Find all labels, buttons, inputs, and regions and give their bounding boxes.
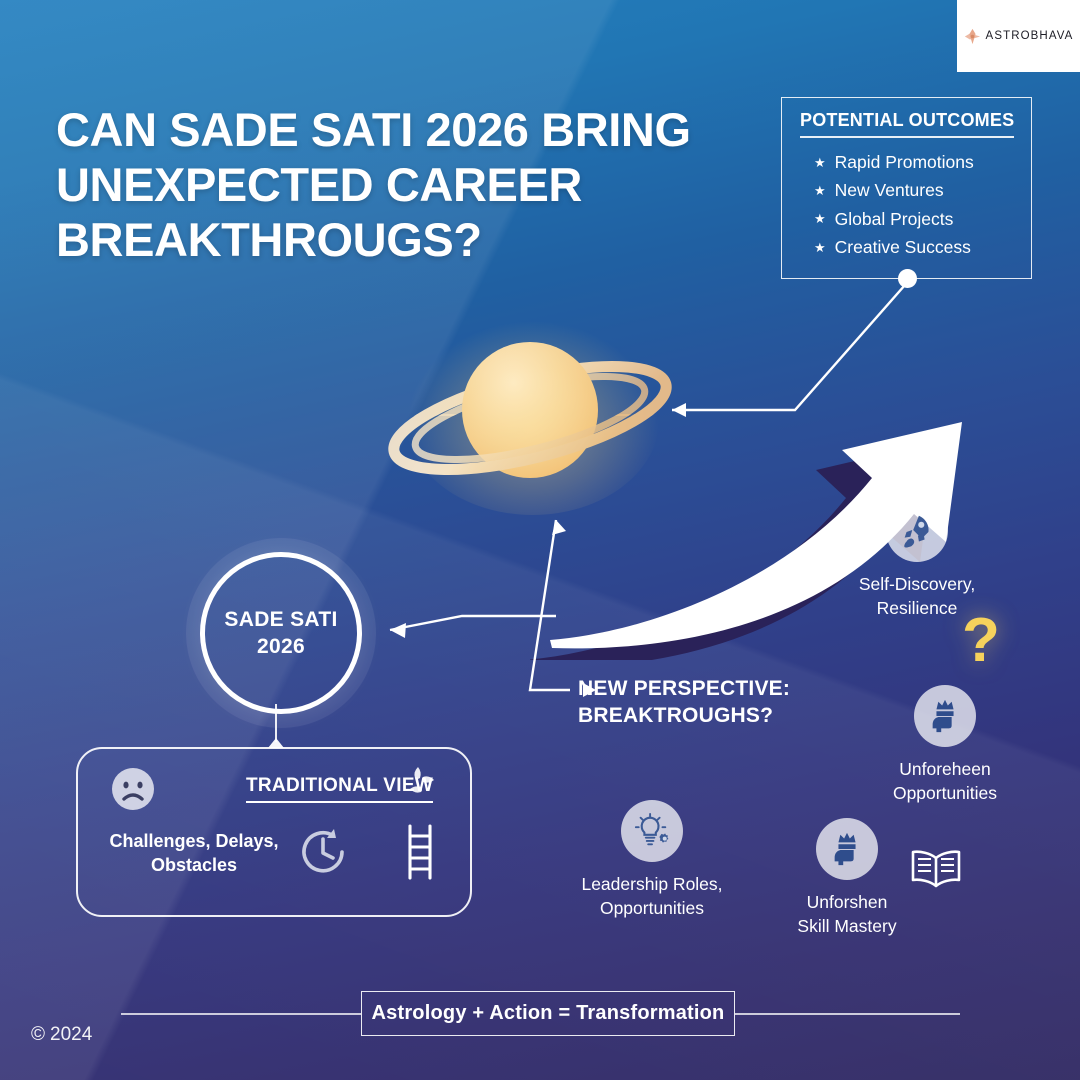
sade-sati-node: SADE SATI 2026 (200, 552, 362, 714)
outcome-item: ★ Rapid Promotions (814, 148, 1017, 176)
footer-tagline-banner: Astrology + Action = Transformation (361, 991, 735, 1036)
copyright-year: 2024 (50, 1024, 92, 1046)
infographic-canvas: ASTROBHAVA CAN SADE SATI 2026 BRING UNEX… (0, 0, 1080, 1080)
sad-face-icon (111, 767, 155, 811)
outcome-label: Creative Success (835, 233, 971, 261)
crowned-head-icon (816, 818, 878, 880)
sade-sati-stem (275, 704, 277, 742)
new-perspective-label: NEW PERSPECTIVE: BREAKTROUGHS? (578, 676, 828, 730)
rocket-icon (886, 500, 948, 562)
star-icon: ★ (814, 212, 826, 225)
benefit-label: Unforshen Skill Mastery (762, 891, 932, 938)
benefit-skill-mastery: Unforshen Skill Mastery (762, 818, 932, 938)
star-icon: ★ (814, 156, 826, 169)
copyright: © 2024 (31, 1024, 92, 1046)
outcome-label: Rapid Promotions (835, 148, 974, 176)
star-icon: ★ (814, 241, 826, 254)
clock-delay-icon (296, 825, 350, 879)
connector-node-dot (898, 269, 917, 288)
sade-sati-node-line2: 2026 (257, 633, 305, 660)
new-perspective-line1: NEW PERSPECTIVE: (578, 676, 828, 703)
star-icon: ★ (814, 184, 826, 197)
traditional-view-panel: TRADITIONAL VIEW Challenges, Delays, Obs… (76, 747, 472, 917)
lightbulb-gear-icon (621, 800, 683, 862)
benefit-unforeheen-opportunities: Unforeheen Opportunities (855, 685, 1035, 805)
footer-rule-right (735, 1013, 960, 1015)
broken-fan-icon (396, 763, 440, 807)
outcome-item: ★ New Ventures (814, 176, 1017, 204)
benefit-leadership-roles: Leadership Roles, Opportunities (562, 800, 742, 920)
ladder-icon (400, 823, 440, 881)
benefit-self-discovery: Self-Discovery, Resilience (822, 500, 1012, 620)
copyright-symbol: © (31, 1024, 45, 1046)
diamond-icon (964, 28, 981, 45)
sade-sati-node-line1: SADE SATI (224, 606, 337, 633)
brand-logo-text: ASTROBHAVA (986, 30, 1074, 42)
new-perspective-line2: BREAKTROUGHS? (578, 703, 828, 730)
brand-logo: ASTROBHAVA (957, 0, 1080, 72)
potential-outcomes-list: ★ Rapid Promotions ★ New Ventures ★ Glob… (796, 148, 1017, 261)
open-book-icon (908, 845, 964, 893)
page-title: CAN SADE SATI 2026 BRING UNEXPECTED CARE… (56, 103, 756, 268)
benefit-label: Unforeheen Opportunities (855, 758, 1035, 805)
outcome-label: Global Projects (835, 205, 954, 233)
potential-outcomes-panel: POTENTIAL OUTCOMES ★ Rapid Promotions ★ … (781, 97, 1032, 279)
traditional-view-body: Challenges, Delays, Obstacles (94, 829, 294, 878)
outcome-item: ★ Global Projects (814, 205, 1017, 233)
potential-outcomes-title: POTENTIAL OUTCOMES (800, 110, 1014, 138)
outcome-item: ★ Creative Success (814, 233, 1017, 261)
outcome-label: New Ventures (835, 176, 944, 204)
crowned-head-icon (914, 685, 976, 747)
benefit-label: Leadership Roles, Opportunities (562, 873, 742, 920)
footer-rule-left (121, 1013, 361, 1015)
question-mark-icon: ? (962, 610, 1000, 672)
